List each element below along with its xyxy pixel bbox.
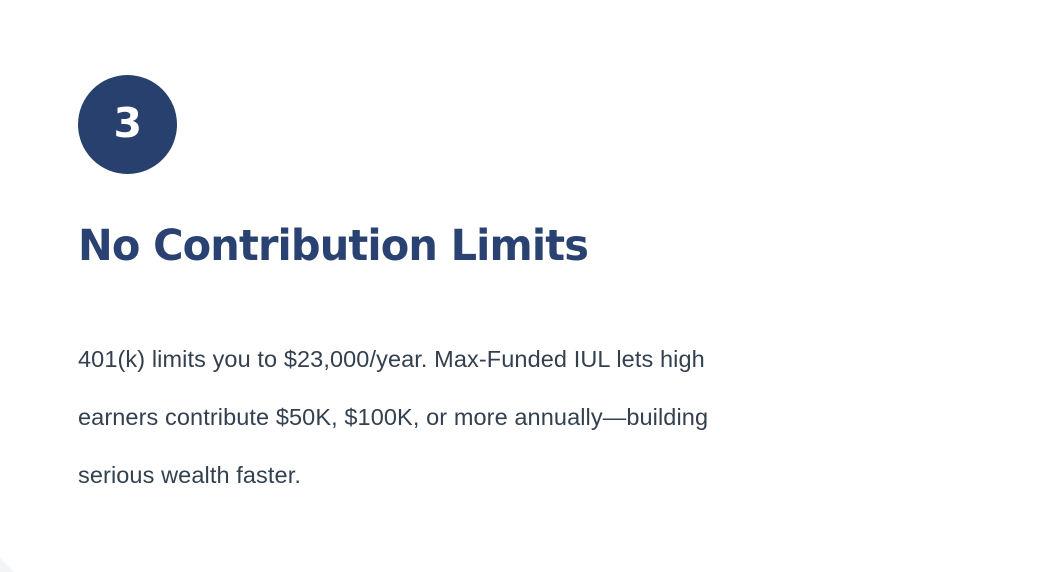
body-line-2: earners contribute $50K, $100K, or more … xyxy=(78,388,958,446)
card-heading: No Contribution Limits xyxy=(78,222,588,270)
body-line-3: serious wealth faster. xyxy=(78,446,958,504)
step-number-badge: 3 xyxy=(78,75,177,174)
card-corner-shade xyxy=(0,558,14,572)
body-line-1: 401(k) limits you to $23,000/year. Max-F… xyxy=(78,330,958,388)
benefit-card: 3 No Contribution Limits 401(k) limits y… xyxy=(0,0,1056,572)
card-body-text: 401(k) limits you to $23,000/year. Max-F… xyxy=(78,330,958,504)
step-number-label: 3 xyxy=(113,103,141,144)
